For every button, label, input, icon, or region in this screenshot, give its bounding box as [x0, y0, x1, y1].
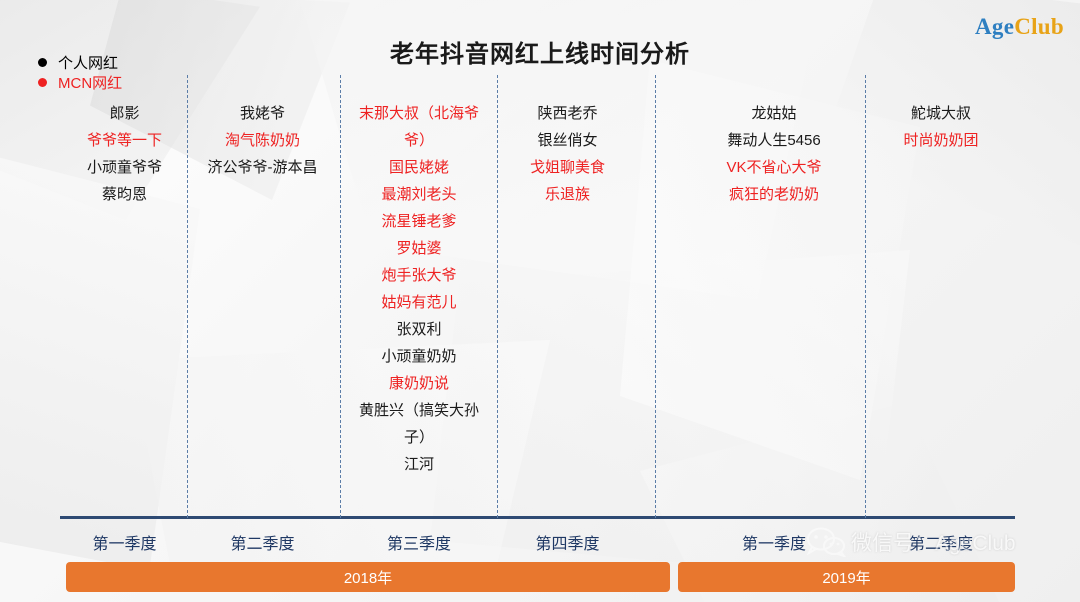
quarter-column: 鮀城大叔时尚奶奶团: [868, 100, 1014, 154]
influencer-entry: 最潮刘老头: [355, 181, 483, 208]
influencer-entry: 末那大叔（北海爷爷）: [355, 100, 483, 154]
timeline-axis: [60, 516, 1015, 519]
influencer-entry: 龙姑姑: [690, 100, 858, 127]
quarter-column: 郎影爷爷等一下小顽童爷爷蔡昀恩: [62, 100, 187, 208]
quarter-column: 龙姑姑舞动人生5456VK不省心大爷疯狂的老奶奶: [690, 100, 858, 208]
quarter-label: 第一季度: [690, 530, 858, 554]
quarter-label: 第二季度: [868, 530, 1014, 554]
quarter-label: 第一季度: [62, 530, 187, 554]
influencer-entry: 小顽童爷爷: [62, 154, 187, 181]
quarter-divider: [497, 75, 498, 518]
influencer-entry: 淘气陈奶奶: [200, 127, 325, 154]
influencer-entry: 济公爷爷-游本昌: [200, 154, 325, 181]
influencer-entry: 舞动人生5456: [690, 127, 858, 154]
influencer-entry: 乐退族: [505, 181, 630, 208]
influencer-entry: 郎影: [62, 100, 187, 127]
influencer-entry: 蔡昀恩: [62, 181, 187, 208]
influencer-entry: 炮手张大爷: [355, 262, 483, 289]
quarter-column: 陕西老乔银丝俏女戈姐聊美食乐退族: [505, 100, 630, 208]
influencer-entry: 戈姐聊美食: [505, 154, 630, 181]
influencer-entry: 国民姥姥: [355, 154, 483, 181]
influencer-entry: 康奶奶说: [355, 370, 483, 397]
influencer-entry: 江河: [355, 451, 483, 478]
year-bar: 2019年: [678, 562, 1015, 592]
year-bar-label: 2019年: [822, 567, 870, 588]
influencer-entry: 黄胜兴（搞笑大孙子）: [355, 397, 483, 451]
influencer-entry: 银丝俏女: [505, 127, 630, 154]
quarter-divider: [340, 75, 341, 518]
influencer-entry: 罗姑婆: [355, 235, 483, 262]
influencer-entry: 爷爷等一下: [62, 127, 187, 154]
quarter-column: 末那大叔（北海爷爷）国民姥姥最潮刘老头流星锤老爹罗姑婆炮手张大爷姑妈有范儿张双利…: [355, 100, 483, 478]
quarter-divider: [187, 75, 188, 518]
influencer-entry: 疯狂的老奶奶: [690, 181, 858, 208]
timeline-chart: 郎影爷爷等一下小顽童爷爷蔡昀恩第一季度我姥爷淘气陈奶奶济公爷爷-游本昌第二季度末…: [0, 0, 1080, 602]
influencer-entry: 小顽童奶奶: [355, 343, 483, 370]
year-bar: 2018年: [66, 562, 670, 592]
influencer-entry: 流星锤老爹: [355, 208, 483, 235]
quarter-divider: [655, 75, 656, 518]
quarter-label: 第四季度: [505, 530, 630, 554]
influencer-entry: 时尚奶奶团: [868, 127, 1014, 154]
influencer-entry: 姑妈有范儿: [355, 289, 483, 316]
influencer-entry: 鮀城大叔: [868, 100, 1014, 127]
influencer-entry: 陕西老乔: [505, 100, 630, 127]
quarter-column: 我姥爷淘气陈奶奶济公爷爷-游本昌: [200, 100, 325, 181]
quarter-divider: [865, 75, 866, 518]
quarter-label: 第二季度: [200, 530, 325, 554]
quarter-label: 第三季度: [355, 530, 483, 554]
year-bar-label: 2018年: [344, 567, 392, 588]
influencer-entry: 我姥爷: [200, 100, 325, 127]
influencer-entry: VK不省心大爷: [690, 154, 858, 181]
influencer-entry: 张双利: [355, 316, 483, 343]
